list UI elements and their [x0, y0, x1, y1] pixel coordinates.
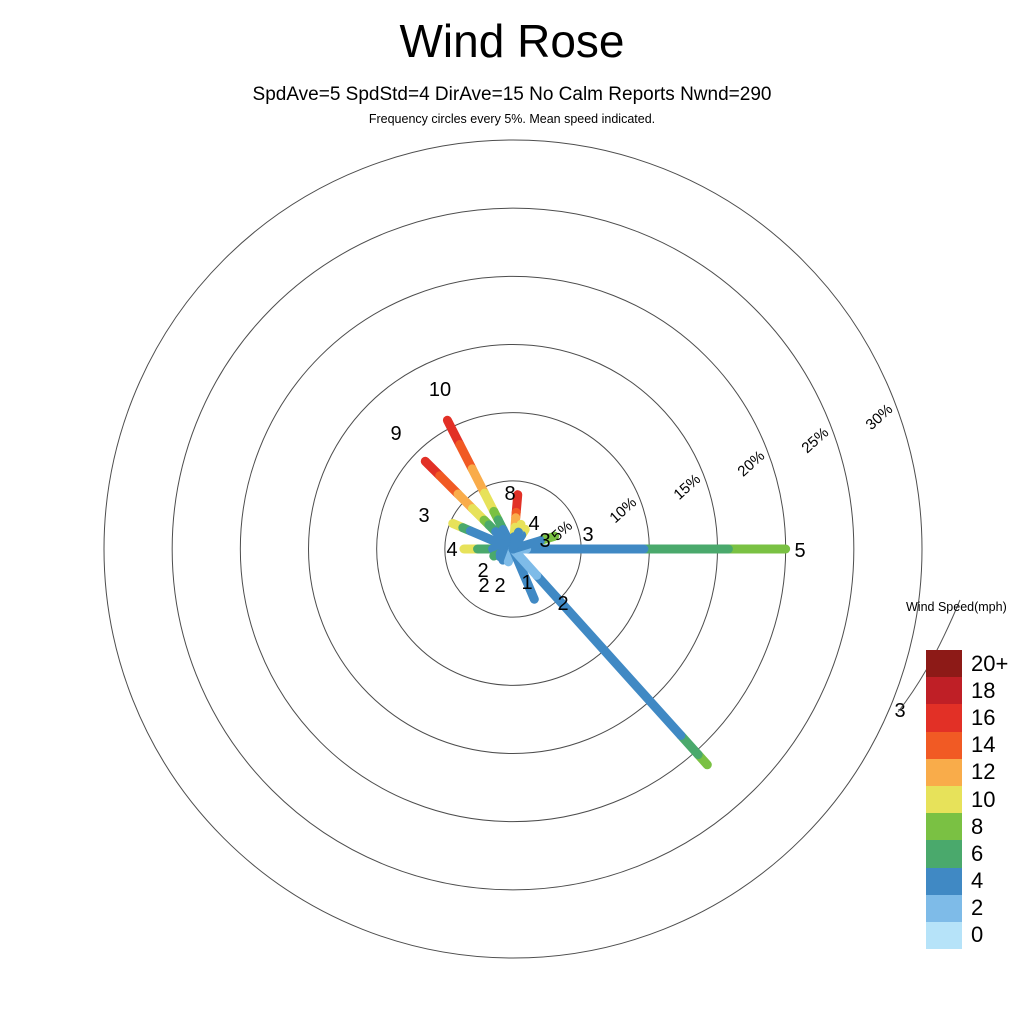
legend-row[interactable]: 20+ [926, 650, 1017, 677]
legend-row[interactable]: 14 [926, 732, 1017, 759]
legend-row[interactable]: 6 [926, 840, 1017, 867]
petal-mean-speed-label: 2 [494, 575, 505, 597]
legend-label: 10 [971, 787, 1017, 813]
ring-labels: 5%10%15%20%25%30% [548, 401, 896, 545]
legend-color-swatch [926, 813, 962, 840]
legend-row[interactable]: 0 [926, 922, 1017, 949]
petal-mean-speed-label: 4 [446, 539, 457, 561]
petal-mean-speed-label: 3 [894, 700, 905, 722]
legend-color-swatch [926, 759, 962, 786]
legend-label: 0 [971, 922, 1017, 948]
legend-label: 2 [971, 895, 1017, 921]
petal-mean-speed-label: 2 [478, 575, 489, 597]
petal-mean-speed-label: 2 [557, 593, 568, 615]
ring-label: 30% [863, 401, 897, 434]
legend-row[interactable]: 18 [926, 677, 1017, 704]
legend-color-swatch [926, 677, 962, 704]
petal-mean-speed-label: 1 [521, 572, 532, 594]
legend-label: 18 [971, 678, 1017, 704]
legend-color-swatch [926, 704, 962, 731]
wind-petal [425, 461, 513, 549]
wind-rose-plot: 5%10%15%20%25%30% 8109342221235334 [0, 0, 1024, 1024]
legend-row[interactable]: 2 [926, 895, 1017, 922]
wind-rose-page: Wind Rose SpdAve=5 SpdStd=4 DirAve=15 No… [0, 0, 1024, 1024]
legend-color-swatch [926, 732, 962, 759]
legend-label: 20+ [971, 651, 1017, 677]
legend-color-swatch [926, 840, 962, 867]
petal-speed-segment [513, 532, 518, 549]
ring-label: 25% [798, 424, 832, 457]
legend-label: 16 [971, 705, 1017, 731]
ring-label: 10% [606, 494, 640, 527]
legend: Wind Speed(mph) 20+181614121086420 [906, 600, 1024, 614]
ring-label: 20% [734, 447, 768, 480]
legend-label: 14 [971, 732, 1017, 758]
ring-label: 15% [670, 471, 704, 504]
legend-row[interactable]: 10 [926, 786, 1017, 813]
legend-colorbar: 20+181614121086420 [926, 650, 1017, 949]
legend-color-swatch [926, 895, 962, 922]
petal-mean-speed-label: 9 [390, 423, 401, 445]
legend-row[interactable]: 16 [926, 704, 1017, 731]
legend-label: 6 [971, 841, 1017, 867]
legend-color-swatch [926, 922, 962, 949]
legend-row[interactable]: 8 [926, 813, 1017, 840]
legend-label: 4 [971, 868, 1017, 894]
legend-row[interactable]: 4 [926, 868, 1017, 895]
legend-color-swatch [926, 650, 962, 677]
petal-mean-speed-label: 3 [418, 505, 429, 527]
petal-mean-speed-label: 5 [794, 540, 805, 562]
petal-mean-speed-label: 4 [528, 513, 539, 535]
legend-color-swatch [926, 868, 962, 895]
petal-mean-speed-label: 3 [539, 530, 550, 552]
wind-petal [513, 549, 707, 765]
legend-row[interactable]: 12 [926, 759, 1017, 786]
petal-mean-speed-label: 10 [429, 379, 451, 401]
legend-label: 8 [971, 814, 1017, 840]
legend-title: Wind Speed(mph) [906, 600, 1024, 614]
petal-mean-speed-label: 8 [504, 483, 515, 505]
legend-label: 12 [971, 759, 1017, 785]
legend-color-swatch [926, 786, 962, 813]
petal-mean-speed-label: 3 [582, 524, 593, 546]
